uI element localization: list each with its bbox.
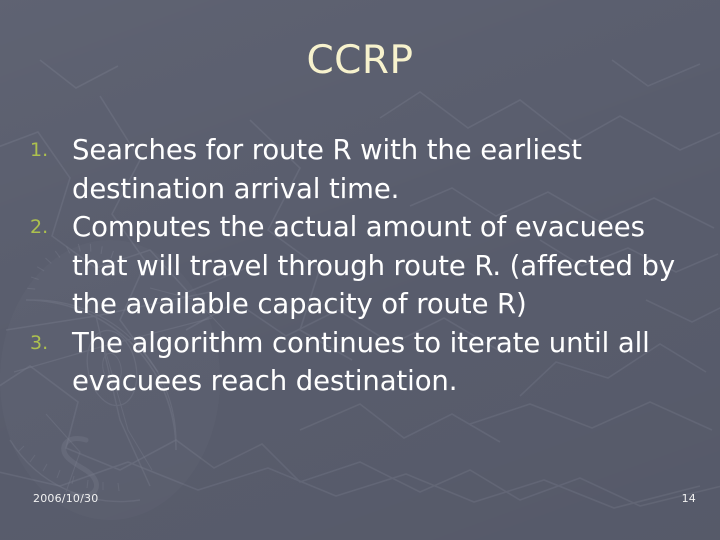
footer-page-number: 14 [682,492,696,506]
list-item-text: Searches for route R with the earliest d… [72,131,688,208]
list-item: 1. Searches for route R with the earlies… [26,131,688,208]
list-item-text: Computes the actual amount of evacuees t… [72,208,688,324]
list-item: 2. Computes the actual amount of evacuee… [26,208,688,324]
footer-date: 2006/10/30 [33,492,98,506]
list-item-text: The algorithm continues to iterate until… [72,324,688,401]
list-item: 3. The algorithm continues to iterate un… [26,324,688,401]
slide-title: CCRP [0,38,720,84]
slide-body-list: 1. Searches for route R with the earlies… [26,131,688,401]
presentation-slide: CCRP 1. Searches for route R with the ea… [0,0,720,540]
list-item-marker: 3. [26,324,72,363]
list-item-marker: 2. [26,208,72,247]
list-item-marker: 1. [26,131,72,170]
